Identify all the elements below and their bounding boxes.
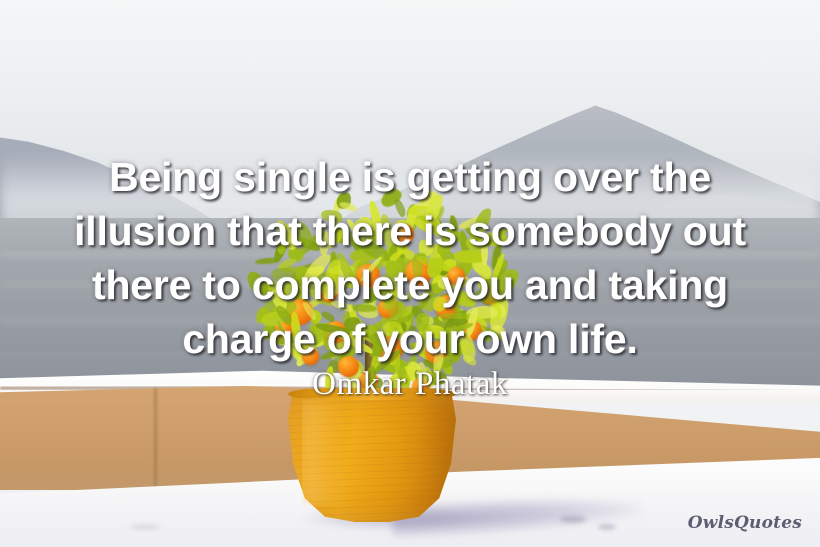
quote-line: illusion that there is somebody out bbox=[0, 204, 820, 258]
quote-line: charge of your own life. bbox=[0, 312, 820, 366]
quote-card: Being single is getting over the illusio… bbox=[0, 0, 820, 547]
deck-speck bbox=[560, 516, 586, 523]
quote-line: Being single is getting over the bbox=[0, 150, 820, 204]
quote-author: Omkar Phatak bbox=[0, 366, 820, 403]
flower-pot-highlight bbox=[302, 398, 348, 506]
quote-line: there to complete you and taking bbox=[0, 258, 820, 312]
deck-speck bbox=[598, 524, 616, 530]
watermark-logo: OwlsQuotes bbox=[688, 513, 802, 533]
quote-text: Being single is getting over the illusio… bbox=[0, 150, 820, 366]
deck-speck bbox=[130, 524, 160, 530]
